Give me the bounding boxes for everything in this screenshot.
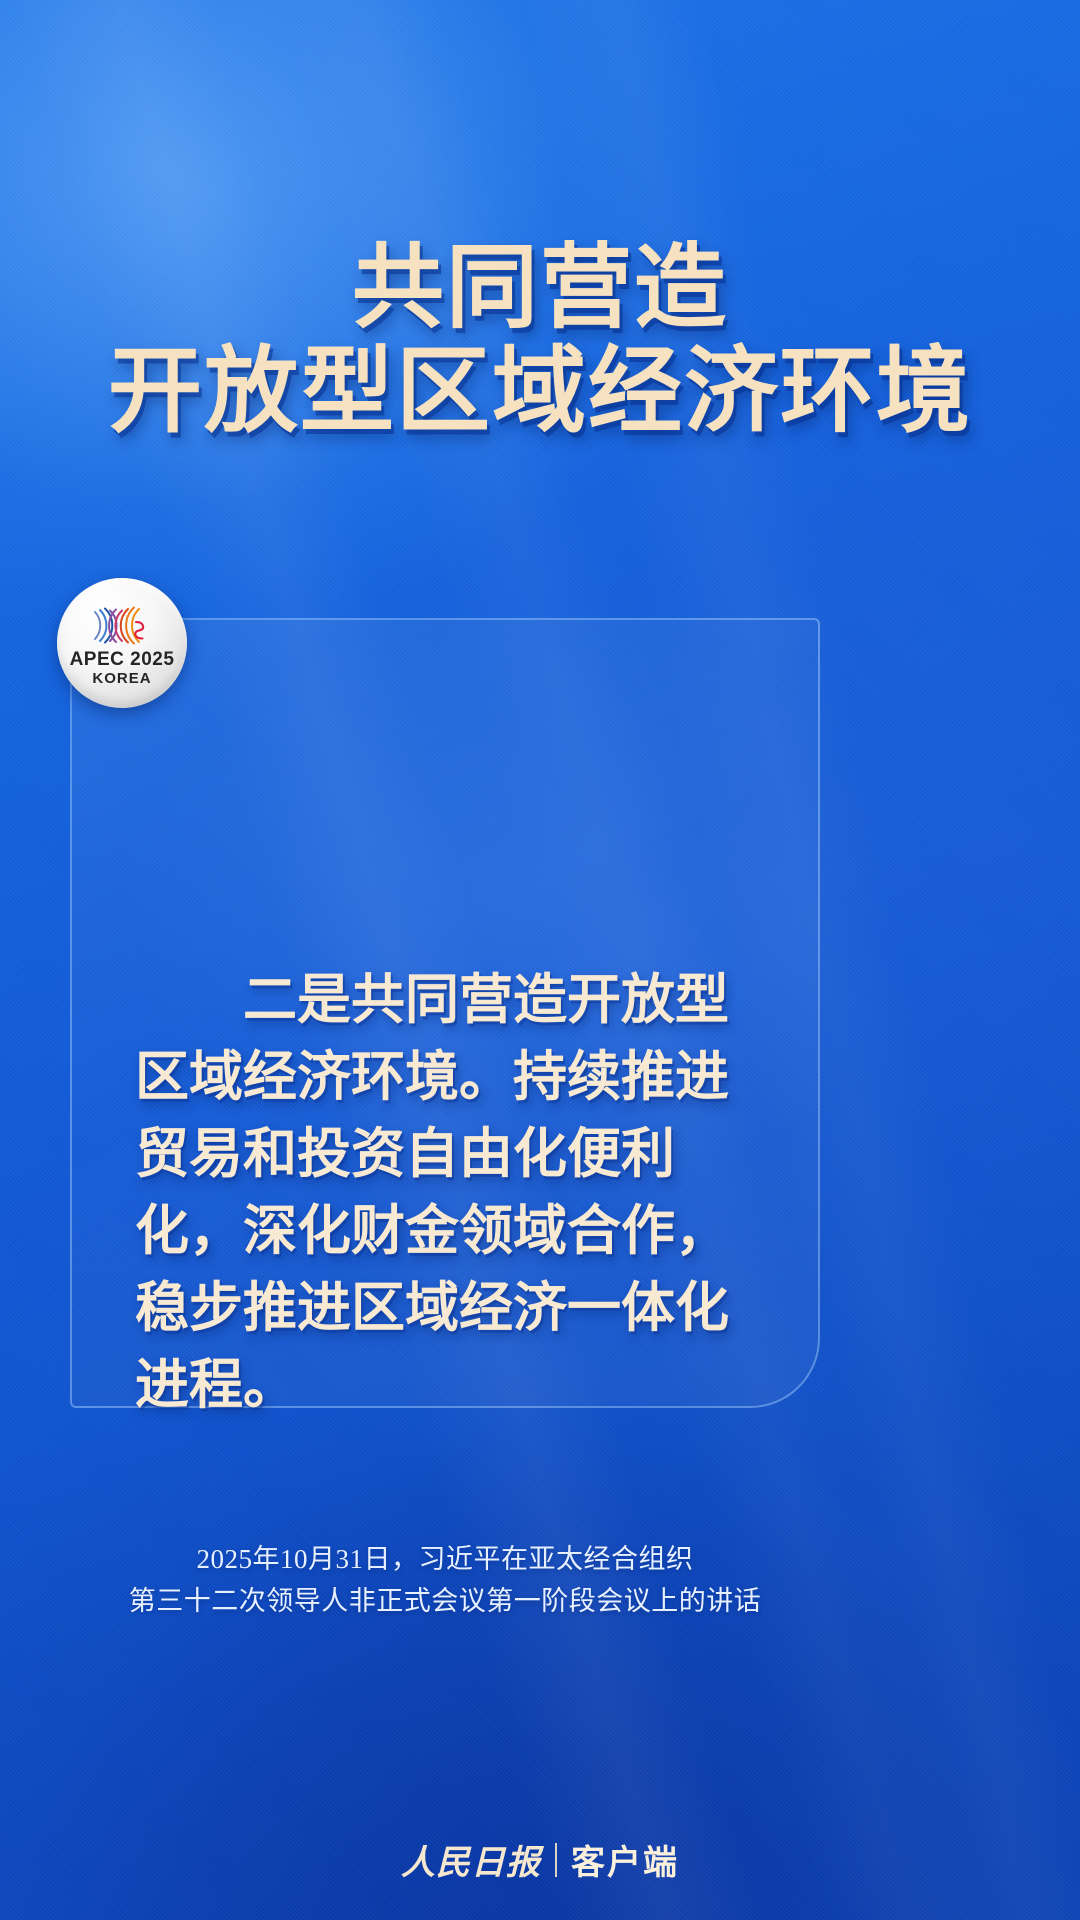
badge-host-country: KOREA xyxy=(92,670,151,687)
apec-2025-korea-badge: APEC 2025 KOREA xyxy=(57,578,187,708)
apec-faces-logo-icon xyxy=(80,602,164,648)
attribution-line-2: 第三十二次领导人非正式会议第一阶段会议上的讲话 xyxy=(70,1580,820,1622)
attribution-line-1: 2025年10月31日，习近平在亚太经合组织 xyxy=(70,1538,820,1580)
poster-title: 共同营造 开放型区域经济环境 xyxy=(0,236,1080,444)
publisher-logo-text: 人民日报 xyxy=(401,1835,541,1884)
brand-divider xyxy=(555,1843,557,1877)
poster-canvas: 共同营造 开放型区域经济环境 APEC 2025 KOREA 二是共同营造开放型 xyxy=(0,0,1080,1920)
title-line-1: 共同营造 xyxy=(0,236,1080,340)
product-name-text: 客户端 xyxy=(571,1835,679,1884)
footer-brand-lockup: 人民日报 客户端 xyxy=(0,1835,1080,1884)
quote-attribution: 2025年10月31日，习近平在亚太经合组织 第三十二次领导人非正式会议第一阶段… xyxy=(70,1538,820,1622)
quote-body-text: 二是共同营造开放型区域经济环境。持续推进贸易和投资自由化便利化，深化财金领域合作… xyxy=(135,962,775,1424)
badge-apec-year: APEC 2025 xyxy=(70,650,175,670)
title-line-2: 开放型区域经济环境 xyxy=(0,340,1080,444)
